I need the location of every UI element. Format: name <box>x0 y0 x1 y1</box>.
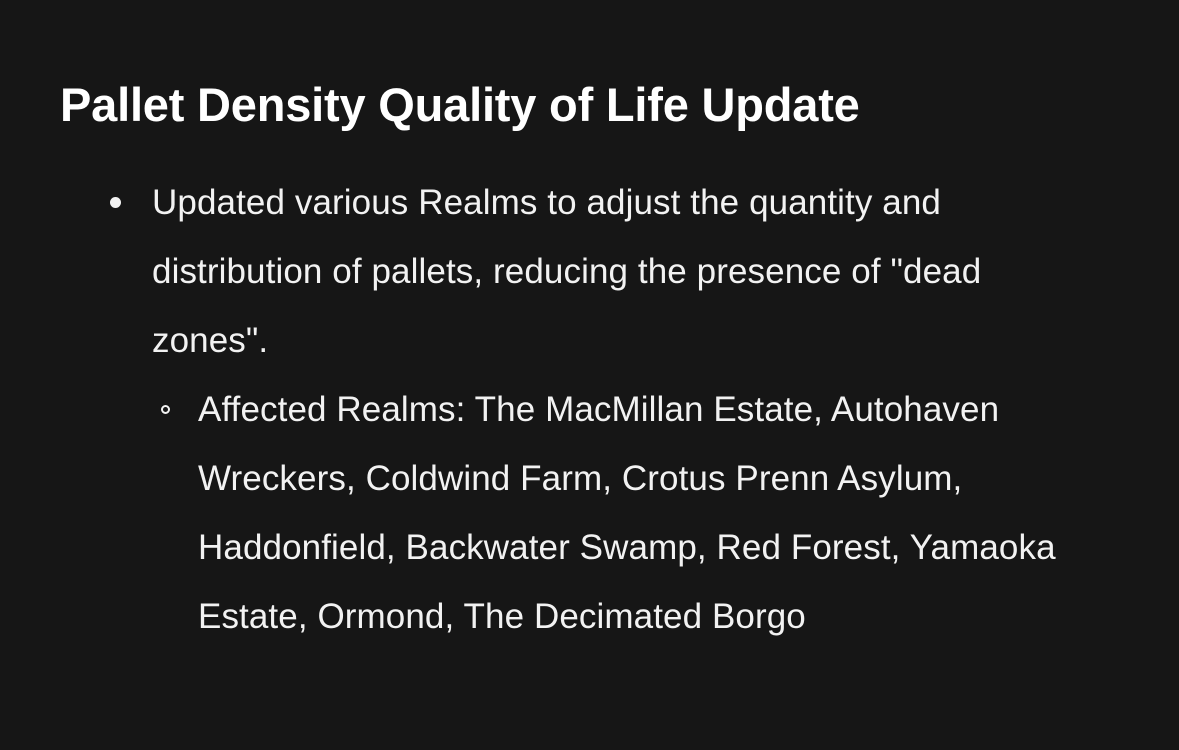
list-item: Updated various Realms to adjust the qua… <box>0 168 1179 651</box>
page-title: Pallet Density Quality of Life Update <box>60 79 860 132</box>
patch-notes-list: Updated various Realms to adjust the qua… <box>0 168 1179 651</box>
patch-notes-body: Updated various Realms to adjust the qua… <box>0 168 1179 651</box>
circle-bullet-icon <box>161 405 170 414</box>
affected-realms-text: Affected Realms: The MacMillan Estate, A… <box>198 375 1110 651</box>
patch-notes-page: Pallet Density Quality of Life Update Up… <box>0 0 1179 750</box>
affected-realms-sublist: Affected Realms: The MacMillan Estate, A… <box>152 375 1179 651</box>
list-item: Affected Realms: The MacMillan Estate, A… <box>152 375 1179 651</box>
list-item-text: Updated various Realms to adjust the qua… <box>152 168 1107 375</box>
disc-bullet-icon <box>110 197 121 208</box>
